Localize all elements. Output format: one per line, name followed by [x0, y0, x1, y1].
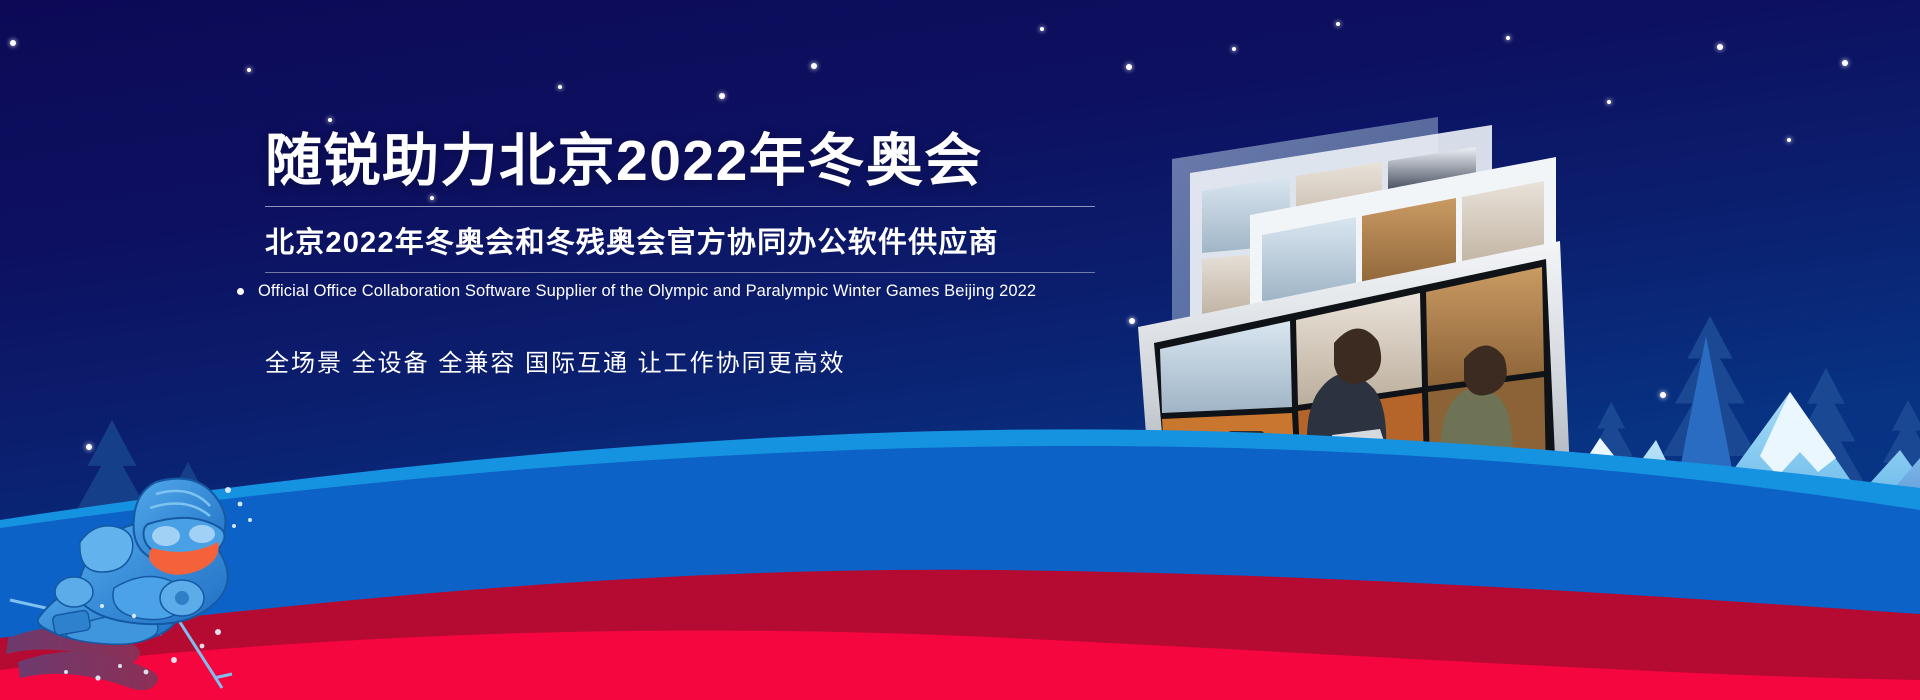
subtitle-chinese: 北京2022年冬奥会和冬残奥会官方协同办公软件供应商 [265, 219, 1095, 261]
star-icon [1232, 47, 1236, 51]
star-icon [1126, 64, 1132, 70]
olympic-promo-banner: 随锐助力北京2022年冬奥会 北京2022年冬奥会和冬残奥会官方协同办公软件供应… [0, 0, 1920, 700]
subtitle-english-row: Official Office Collaboration Software S… [265, 282, 1095, 301]
divider-bottom [265, 272, 1095, 273]
star-icon [1040, 27, 1044, 31]
alpine-skier-illustration [6, 420, 296, 690]
star-icon [1336, 22, 1340, 26]
star-icon [811, 63, 817, 69]
star-icon [558, 85, 562, 89]
divider-top [265, 206, 1095, 207]
banner-copy: 随锐助力北京2022年冬奥会 北京2022年冬奥会和冬残奥会官方协同办公软件供应… [265, 132, 1095, 378]
tagline: 全场景 全设备 全兼容 国际互通 让工作协同更高效 [265, 343, 1095, 378]
star-icon [1506, 36, 1510, 40]
star-icon [1842, 60, 1848, 66]
star-icon [10, 40, 16, 46]
star-icon [328, 118, 332, 122]
star-icon [719, 93, 725, 99]
star-icon [1787, 138, 1791, 142]
star-icon [1717, 44, 1723, 50]
bullet-dot-icon [237, 288, 244, 295]
page-title: 随锐助力北京2022年冬奥会 [265, 132, 1095, 192]
star-icon [247, 68, 251, 72]
subtitle-english: Official Office Collaboration Software S… [258, 282, 1036, 301]
